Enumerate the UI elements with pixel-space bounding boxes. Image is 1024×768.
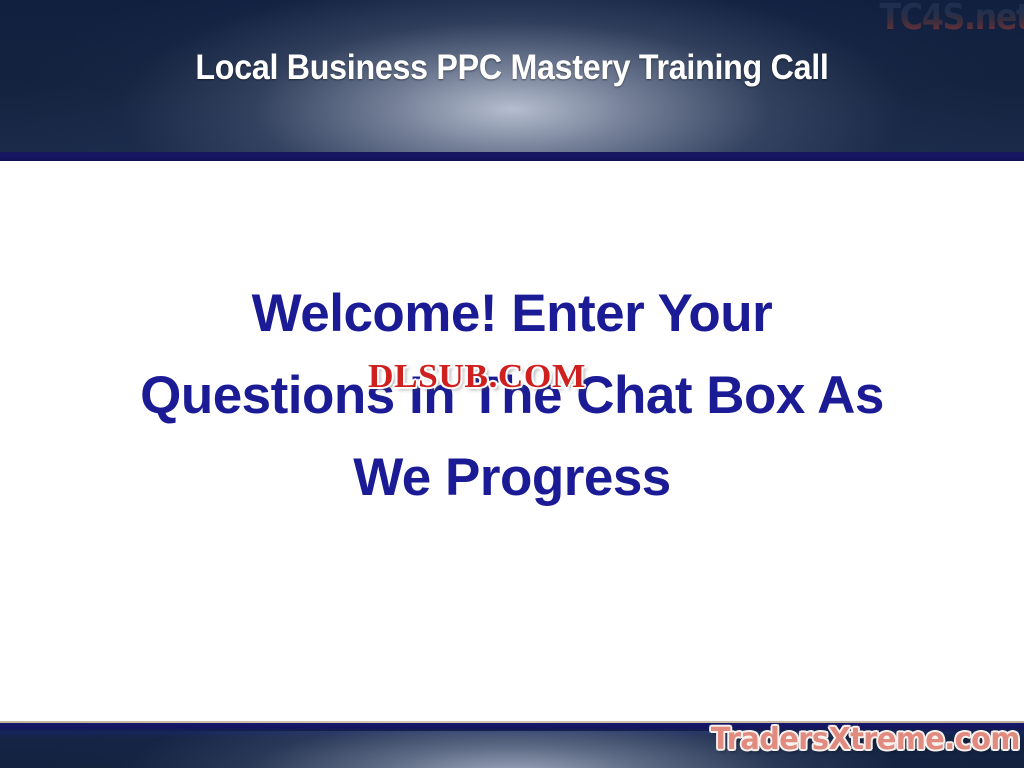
slide-body: Welcome! Enter Your Questions In The Cha… [0,161,1024,722]
body-line-1: Welcome! Enter Your [62,273,962,355]
tc4s-watermark: TC4S.net [880,0,1024,38]
slide-header: Local Business PPC Mastery Training Call… [0,0,1024,152]
slide-body-text: Welcome! Enter Your Questions In The Cha… [62,273,962,519]
header-divider [0,152,1024,161]
body-line-3: We Progress [62,437,962,519]
slide-footer: TradersXtreme.com [0,723,1024,768]
dlsub-watermark: DLSUB.COM [368,358,586,396]
presentation-slide: Local Business PPC Mastery Training Call… [0,0,1024,768]
page-title: Local Business PPC Mastery Training Call [41,48,983,88]
tradersxtreme-watermark: TradersXtreme.com [711,723,1020,757]
